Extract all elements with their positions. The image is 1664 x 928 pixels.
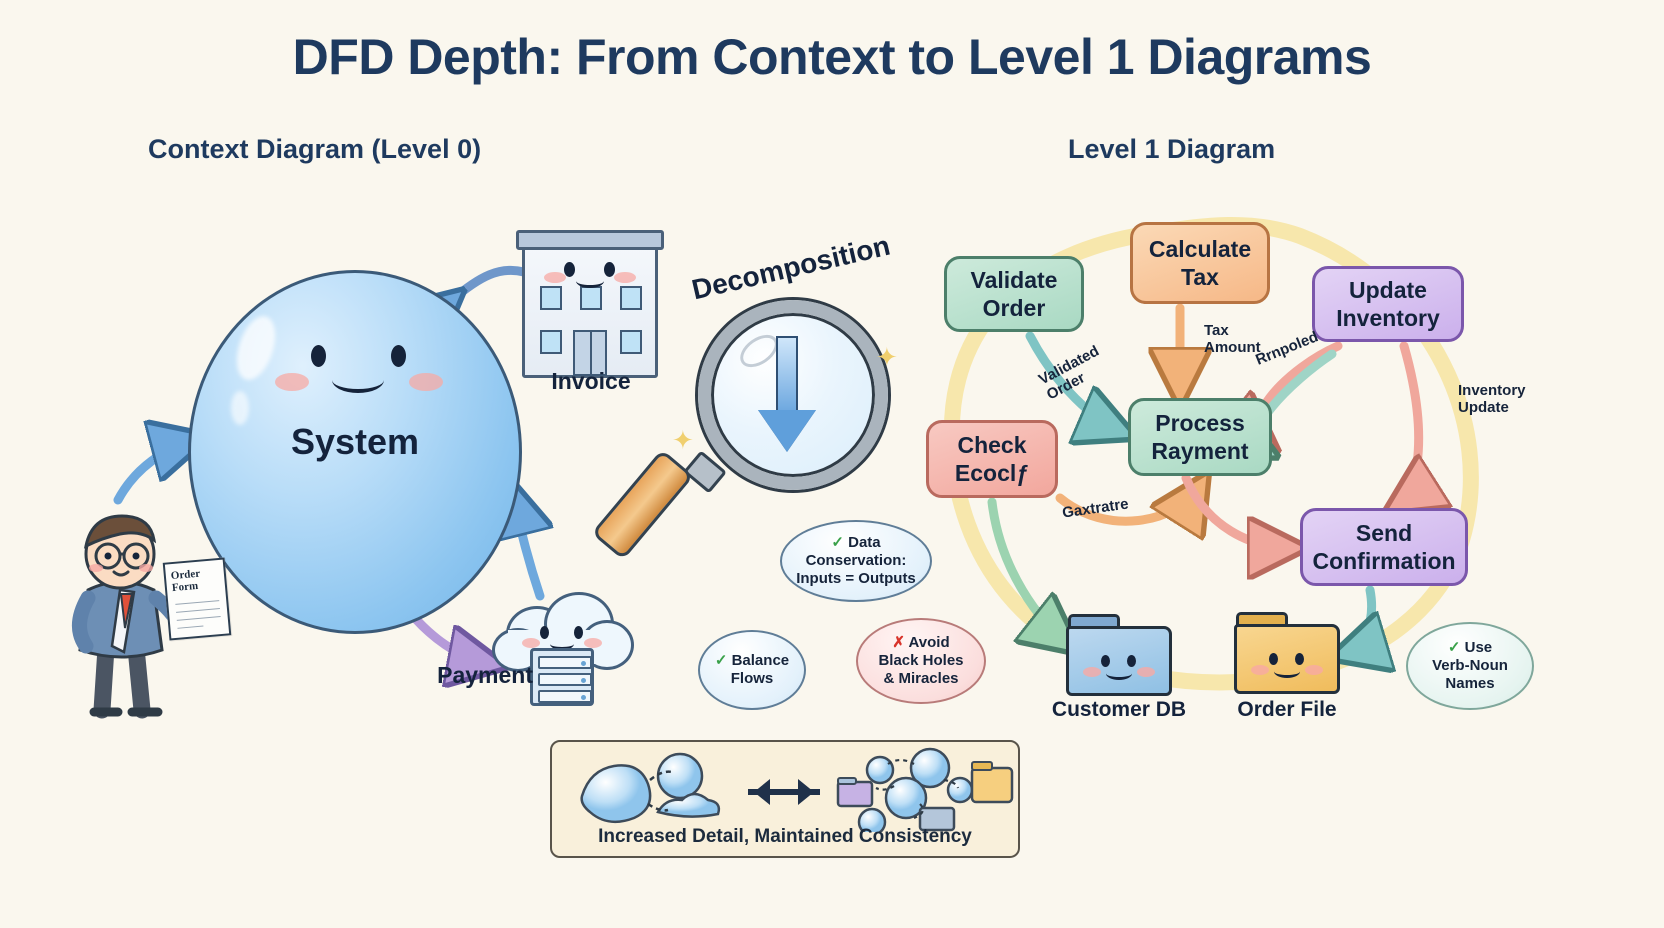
tip-line-1: Avoid — [909, 634, 950, 651]
cross-icon: ✗ — [892, 634, 905, 651]
section-heading-context: Context Diagram (Level 0) — [148, 134, 481, 165]
face-cheek-left-icon — [275, 373, 309, 391]
face-smile-icon — [576, 274, 604, 288]
system-label: System — [191, 421, 519, 463]
order-form-document: Order Form — [163, 557, 232, 640]
face-cheek-right-icon — [584, 638, 602, 648]
order-form-title: Order Form — [170, 566, 224, 594]
tip-bubble-avoid-black-holes[interactable]: ✗ Avoid Black Holes & Miracles — [856, 618, 986, 704]
flow-label-payment: Payment — [383, 662, 533, 689]
face-eye-right-icon — [574, 626, 583, 639]
process-process-payment[interactable]: Process Rayment — [1128, 398, 1272, 476]
face-smile-icon — [332, 367, 384, 393]
face-eye-left-icon — [311, 345, 326, 367]
tip-line-1: Data — [848, 534, 881, 551]
process-send-confirmation[interactable]: Send Confirmation — [1300, 508, 1468, 586]
tip-line-3: Inputs = Outputs — [796, 570, 916, 587]
external-entity-cloud-server[interactable] — [488, 590, 638, 710]
flow-label-validated-order: ValidatedOrder — [1036, 343, 1110, 404]
data-store-customer-db[interactable] — [1066, 614, 1172, 696]
data-store-order-file[interactable] — [1234, 612, 1340, 694]
flow-label-tax-amount: TaxAmount — [1204, 322, 1261, 356]
process-calculate-tax[interactable]: Calculate Tax — [1130, 222, 1270, 304]
sparkle-icon: ✦ — [876, 342, 898, 373]
tip-line-2: Verb-Noun — [1432, 657, 1508, 674]
check-icon: ✓ — [831, 534, 844, 551]
section-heading-level1: Level 1 Diagram — [1068, 134, 1275, 165]
flow-label-inventory-update: InventoryUpdate — [1458, 382, 1526, 416]
external-entity-customer[interactable]: Order Form — [58, 498, 244, 720]
flow-label-approved: Rrnpoled — [1253, 328, 1320, 368]
flow-label-generate: Gaxtratre — [1061, 495, 1129, 521]
process-check-credit[interactable]: Check Ecoclƒ — [926, 420, 1058, 498]
bubble-highlight-small-icon — [231, 391, 249, 425]
data-store-label-customer-db: Customer DB — [1024, 698, 1214, 722]
face-cheek-right-icon — [614, 272, 636, 283]
tip-line-2: Flows — [731, 670, 774, 687]
sparkle-icon: ✦ — [672, 425, 694, 456]
legend-panel: Increased Detail, Maintained Consistency — [550, 740, 1020, 858]
face-cheek-left-icon — [522, 638, 540, 648]
tip-line-2: Black Holes — [878, 652, 963, 669]
tip-bubble-use-verb-noun[interactable]: ✓ Use Verb-Noun Names — [1406, 622, 1534, 710]
data-store-label-order-file: Order File — [1198, 698, 1376, 722]
tip-line-2: Conservation: — [806, 552, 907, 569]
tip-line-3: & Miracles — [883, 670, 958, 687]
face-cheek-right-icon — [409, 373, 443, 391]
face-cheek-left-icon — [544, 272, 566, 283]
legend-illustration — [552, 746, 1018, 832]
process-validate-order[interactable]: Validate Order — [944, 256, 1084, 332]
tip-bubble-balance-flows[interactable]: ✓ Balance Flows — [698, 630, 806, 710]
face-eye-left-icon — [564, 262, 575, 277]
check-icon: ✓ — [1448, 639, 1461, 656]
check-icon: ✓ — [715, 652, 728, 669]
diagram-canvas: DFD Depth: From Context to Level 1 Diagr… — [0, 0, 1664, 928]
tip-line-1: Use — [1465, 639, 1493, 656]
legend-caption: Increased Detail, Maintained Consistency — [552, 826, 1018, 848]
tip-line-1: Balance — [732, 652, 790, 669]
server-rack-icon — [530, 648, 594, 706]
tip-bubble-data-conservation[interactable]: ✓ Data Conservation: Inputs = Outputs — [780, 520, 932, 602]
face-eye-left-icon — [540, 626, 549, 639]
tip-line-3: Names — [1445, 675, 1494, 692]
face-eye-right-icon — [604, 262, 615, 277]
process-update-inventory[interactable]: Update Inventory — [1312, 266, 1464, 342]
page-title: DFD Depth: From Context to Level 1 Diagr… — [0, 28, 1664, 86]
bubble-highlight-icon — [230, 311, 283, 384]
face-eye-right-icon — [391, 345, 406, 367]
